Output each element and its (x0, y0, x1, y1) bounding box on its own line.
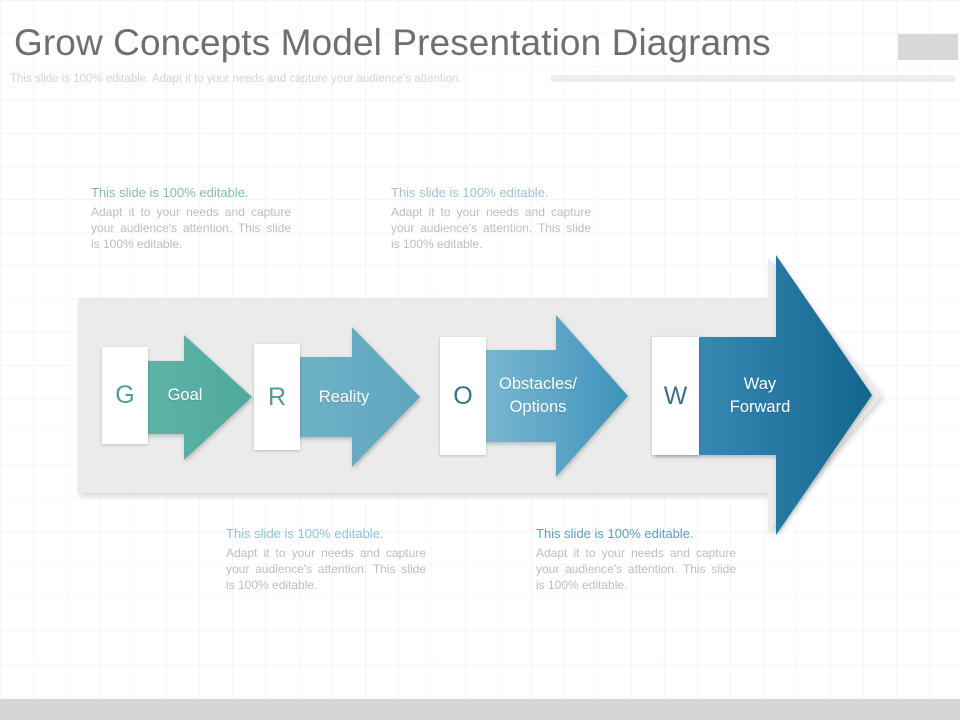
text-block-1-body: Adapt it to your needs and capture your … (91, 204, 291, 252)
stage-letter-4: W (664, 384, 688, 409)
text-block-4-body: Adapt it to your needs and capture your … (536, 545, 736, 593)
stage-label-3: Obstacles/ Options (486, 337, 590, 455)
stage-label-line-1: Goal (168, 384, 203, 407)
text-block-3-heading: This slide is 100% editable. (226, 524, 426, 543)
text-block-4-heading: This slide is 100% editable. (536, 524, 736, 543)
page-subtitle: This slide is 100% editable. Adapt it to… (10, 72, 462, 86)
stage-label-1: Goal (148, 347, 222, 444)
stage-letter-box-1: G (102, 347, 148, 444)
footer-bar (0, 699, 960, 720)
text-block-2-heading: This slide is 100% editable. (391, 183, 591, 202)
stage-label-line-4b: Forward (730, 396, 791, 419)
stage-label-line-2: Reality (319, 386, 369, 409)
stage-label-line-3b: Options (510, 396, 567, 419)
stage-letter-3: O (453, 384, 472, 409)
stage-label-line-3a: Obstacles/ (499, 373, 577, 396)
text-block-2: This slide is 100% editable. Adapt it to… (391, 183, 591, 252)
stage-letter-2: R (268, 385, 286, 410)
stage-letter-box-3: O (440, 337, 486, 455)
stage-chevron-4[interactable]: W Way Forward (650, 250, 906, 542)
corner-placeholder-box (898, 34, 958, 60)
page-title: Grow Concepts Model Presentation Diagram… (14, 20, 771, 66)
text-block-2-body: Adapt it to your needs and capture your … (391, 204, 591, 252)
text-block-1: This slide is 100% editable. Adapt it to… (91, 183, 291, 252)
slide-canvas: Grow Concepts Model Presentation Diagram… (0, 0, 960, 720)
text-block-3: This slide is 100% editable. Adapt it to… (226, 524, 426, 593)
stage-letter-box-2: R (254, 344, 300, 450)
stage-letter-1: G (115, 383, 134, 408)
text-block-4: This slide is 100% editable. Adapt it to… (536, 524, 736, 593)
stage-label-2: Reality (300, 344, 388, 450)
stage-label-4: Way Forward (699, 337, 821, 455)
stage-label-line-4a: Way (744, 373, 776, 396)
text-block-3-body: Adapt it to your needs and capture your … (226, 545, 426, 593)
stage-letter-box-4: W (652, 337, 699, 455)
text-block-1-heading: This slide is 100% editable. (91, 183, 291, 202)
header-divider (551, 75, 955, 82)
